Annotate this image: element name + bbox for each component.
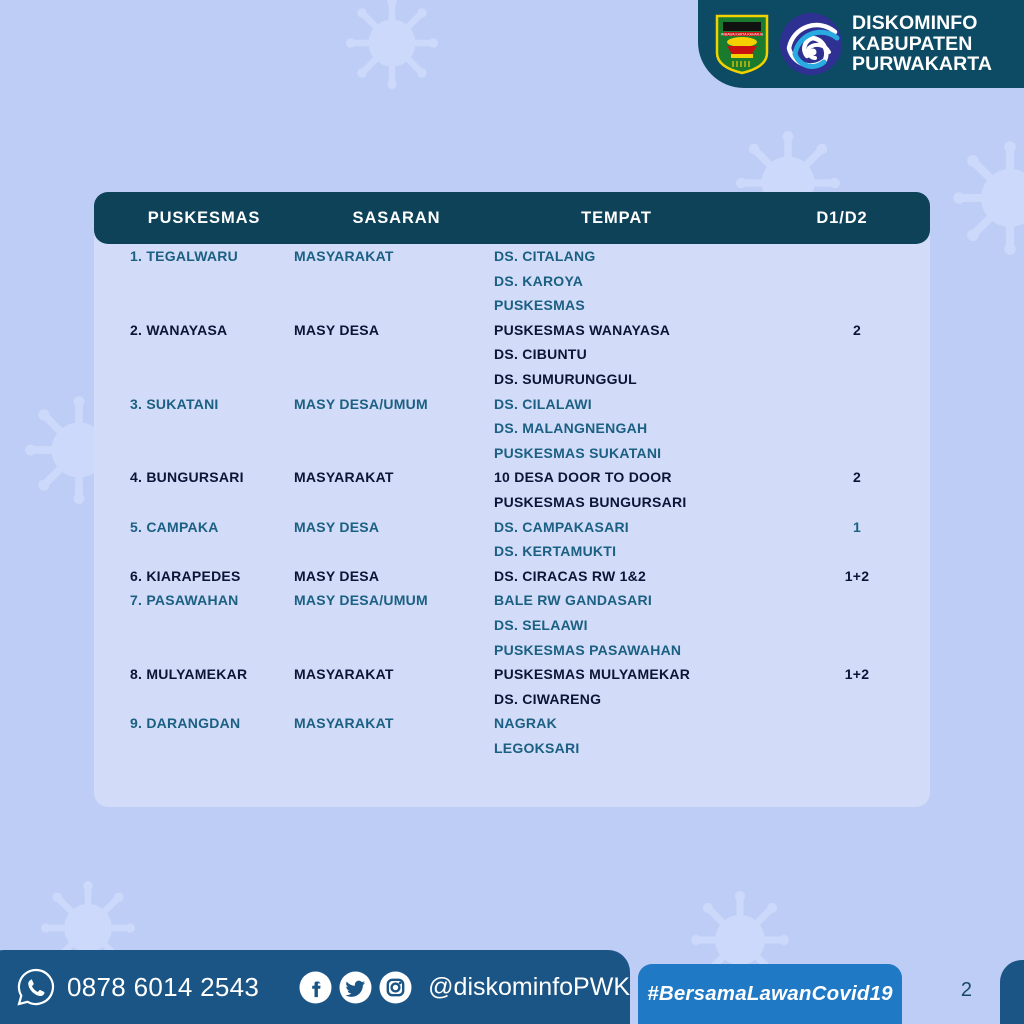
purwakarta-regency-crest-icon: WIBAWA KARTA RAHARJA (714, 13, 770, 75)
tempat-line: DS. CAMPAKASARI (494, 515, 784, 540)
tempat-line: DS. CILALAWI (494, 392, 784, 417)
cell-sasaran: MASYARAKAT (294, 711, 494, 736)
org-title-line2: KABUPATEN (852, 34, 992, 55)
instagram-icon[interactable] (379, 971, 412, 1004)
column-header-puskesmas: PUSKESMAS (94, 209, 314, 228)
cell-sasaran: MASY DESA/UMUM (294, 392, 494, 417)
cell-sasaran: MASY DESA (294, 318, 494, 343)
facebook-icon[interactable] (299, 971, 332, 1004)
tempat-line: DS. KERTAMUKTI (494, 539, 784, 564)
tempat-line: BALE RW GANDASARI (494, 588, 784, 613)
tempat-line: DS. CIRACAS RW 1&2 (494, 564, 784, 589)
table-row: 8. MULYAMEKARMASYARAKATPUSKESMAS MULYAME… (94, 662, 930, 711)
table-row: 5. CAMPAKAMASY DESADS. CAMPAKASARIDS. KE… (94, 515, 930, 564)
cell-tempat: DS. CAMPAKASARIDS. KERTAMUKTI (494, 515, 784, 564)
whatsapp-phone-number[interactable]: 0878 6014 2543 (67, 972, 259, 1003)
cell-sasaran: MASY DESA (294, 564, 494, 589)
table-row: 3. SUKATANIMASY DESA/UMUMDS. CILALAWIDS.… (94, 392, 930, 466)
campaign-hashtag-text: #BersamaLawanCovid19 (647, 982, 893, 1006)
table-body: 1. TEGALWARUMASYARAKATDS. CITALANGDS. KA… (94, 244, 930, 761)
cell-puskesmas: 1. TEGALWARU (94, 244, 294, 269)
tempat-line: NAGRAK (494, 711, 784, 736)
cell-puskesmas: 2. WANAYASA (94, 318, 294, 343)
cell-puskesmas: 5. CAMPAKA (94, 515, 294, 540)
cell-tempat: NAGRAKLEGOKSARI (494, 711, 784, 760)
org-title-line3: PURWAKARTA (852, 54, 992, 75)
tempat-line: DS. KAROYA (494, 269, 784, 294)
tempat-line: PUSKESMAS BUNGURSARI (494, 490, 784, 515)
tempat-line: DS. SUMURUNGGUL (494, 367, 784, 392)
svg-text:WIBAWA KARTA RAHARJA: WIBAWA KARTA RAHARJA (721, 33, 764, 37)
cell-d1d2: 2 (784, 318, 930, 343)
table-row: 7. PASAWAHANMASY DESA/UMUMBALE RW GANDAS… (94, 588, 930, 662)
coronavirus-decoration-icon (952, 140, 1024, 256)
tempat-line: DS. CIWARENG (494, 687, 784, 712)
cell-puskesmas: 8. MULYAMEKAR (94, 662, 294, 687)
tempat-line: PUSKESMAS PASAWAHAN (494, 638, 784, 663)
table-row: 9. DARANGDANMASYARAKATNAGRAKLEGOKSARI (94, 711, 930, 760)
footer-edge-decoration (1000, 960, 1024, 1024)
table-header-row: PUSKESMAS SASARAN TEMPAT D1/D2 (94, 192, 930, 244)
cell-d1d2: 2 (784, 465, 930, 490)
table-row: 2. WANAYASAMASY DESAPUSKESMAS WANAYASADS… (94, 318, 930, 392)
table-row: 1. TEGALWARUMASYARAKATDS. CITALANGDS. KA… (94, 244, 930, 318)
cell-tempat: DS. CITALANGDS. KAROYAPUSKESMAS (494, 244, 784, 318)
campaign-hashtag-badge: #BersamaLawanCovid19 (638, 964, 902, 1024)
cell-sasaran: MASYARAKAT (294, 662, 494, 687)
cell-sasaran: MASYARAKAT (294, 244, 494, 269)
schedule-table-panel: PUSKESMAS SASARAN TEMPAT D1/D2 1. TEGALW… (94, 192, 930, 807)
column-header-d1d2: D1/D2 (754, 209, 930, 228)
org-title-line1: DISKOMINFO (852, 13, 992, 34)
column-header-tempat: TEMPAT (479, 209, 754, 228)
cell-tempat: PUSKESMAS WANAYASADS. CIBUNTUDS. SUMURUN… (494, 318, 784, 392)
tempat-line: 10 DESA DOOR TO DOOR (494, 465, 784, 490)
tempat-line: DS. SELAAWI (494, 613, 784, 638)
table-row: 4. BUNGURSARIMASYARAKAT10 DESA DOOR TO D… (94, 465, 930, 514)
cell-puskesmas: 6. KIARAPEDES (94, 564, 294, 589)
coronavirus-decoration-icon (345, 0, 439, 90)
cell-tempat: DS. CIRACAS RW 1&2 (494, 564, 784, 589)
diskominfo-wave-logo-icon (779, 12, 843, 76)
org-title: DISKOMINFO KABUPATEN PURWAKARTA (852, 13, 992, 75)
cell-sasaran: MASY DESA/UMUM (294, 588, 494, 613)
social-handle[interactable]: @diskominfoPWK (428, 973, 630, 1002)
table-row: 6. KIARAPEDESMASY DESADS. CIRACAS RW 1&2… (94, 564, 930, 589)
tempat-line: PUSKESMAS SUKATANI (494, 441, 784, 466)
cell-sasaran: MASY DESA (294, 515, 494, 540)
twitter-icon[interactable] (339, 971, 372, 1004)
cell-puskesmas: 7. PASAWAHAN (94, 588, 294, 613)
page-number: 2 (961, 979, 972, 1002)
social-media-icons: @diskominfoPWK (299, 971, 630, 1004)
tempat-line: DS. MALANGNENGAH (494, 416, 784, 441)
whatsapp-icon[interactable] (16, 967, 56, 1007)
column-header-sasaran: SASARAN (314, 209, 479, 228)
tempat-line: PUSKESMAS MULYAMEKAR (494, 662, 784, 687)
cell-d1d2: 1 (784, 515, 930, 540)
cell-tempat: DS. CILALAWIDS. MALANGNENGAHPUSKESMAS SU… (494, 392, 784, 466)
tempat-line: PUSKESMAS WANAYASA (494, 318, 784, 343)
cell-d1d2: 1+2 (784, 662, 930, 687)
tempat-line: LEGOKSARI (494, 736, 784, 761)
diskominfo-header-bar: WIBAWA KARTA RAHARJA DISKOMINFO KABUPATE… (698, 0, 1024, 88)
cell-puskesmas: 3. SUKATANI (94, 392, 294, 417)
tempat-line: DS. CIBUNTU (494, 342, 784, 367)
cell-tempat: BALE RW GANDASARIDS. SELAAWIPUSKESMAS PA… (494, 588, 784, 662)
cell-d1d2: 1+2 (784, 564, 930, 589)
contact-footer-bar: 0878 6014 2543 @diskominfoPWK (0, 950, 630, 1024)
cell-puskesmas: 4. BUNGURSARI (94, 465, 294, 490)
tempat-line: DS. CITALANG (494, 244, 784, 269)
cell-puskesmas: 9. DARANGDAN (94, 711, 294, 736)
tempat-line: PUSKESMAS (494, 293, 784, 318)
cell-sasaran: MASYARAKAT (294, 465, 494, 490)
cell-tempat: PUSKESMAS MULYAMEKARDS. CIWARENG (494, 662, 784, 711)
cell-tempat: 10 DESA DOOR TO DOORPUSKESMAS BUNGURSARI (494, 465, 784, 514)
